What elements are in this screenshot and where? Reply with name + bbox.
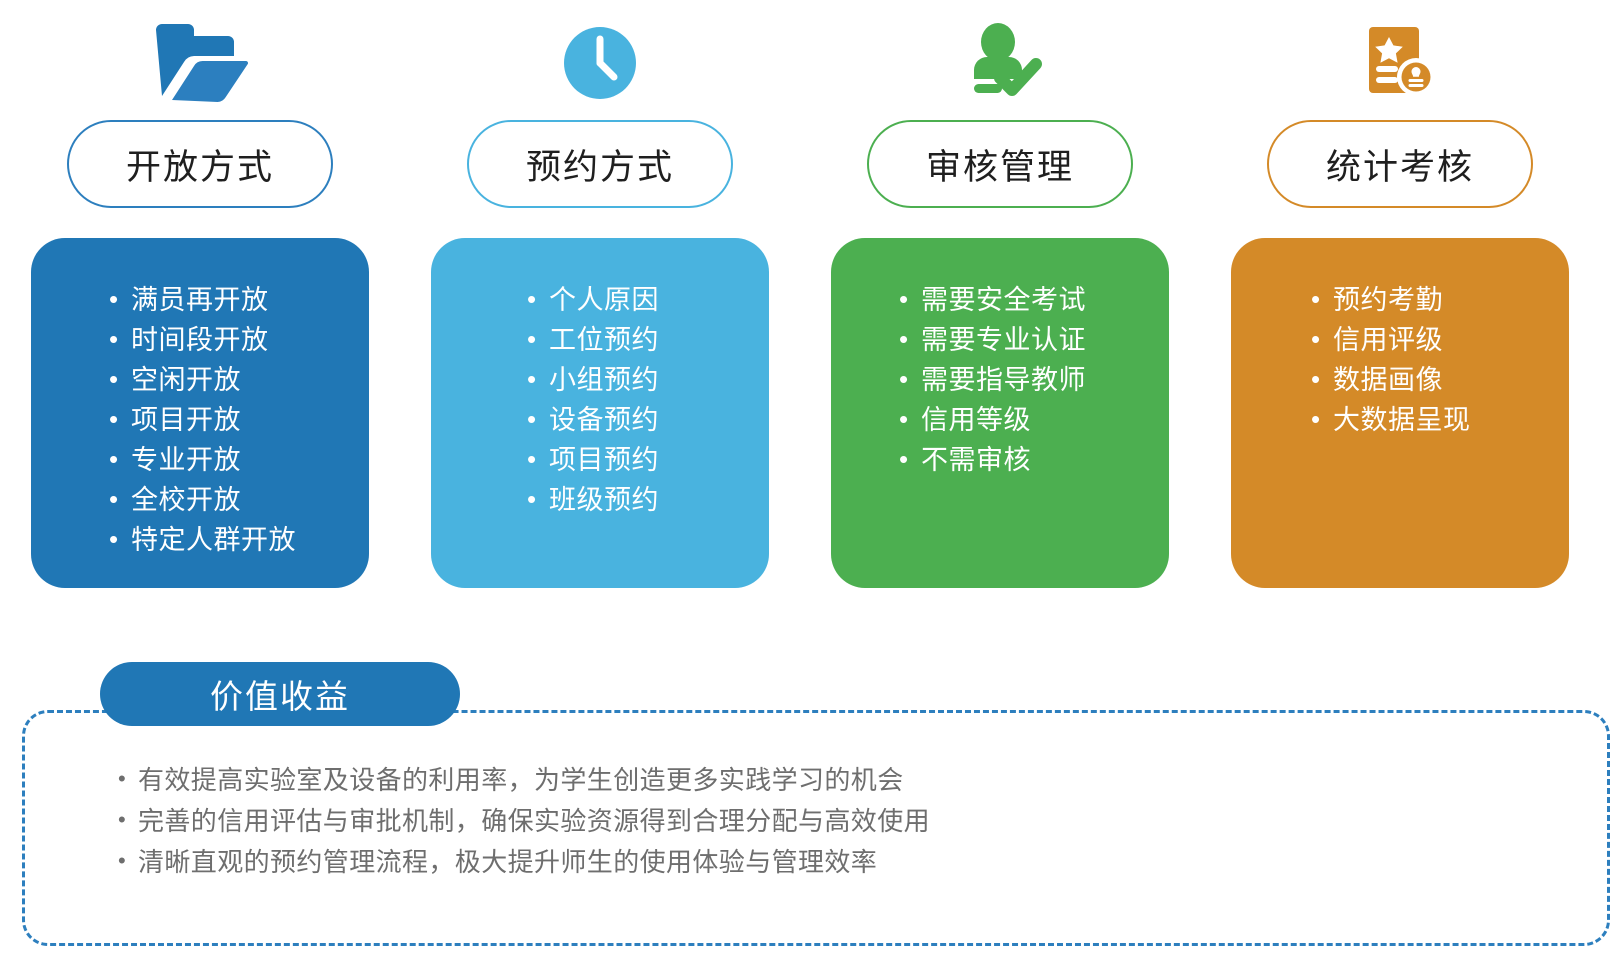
list-item: 专业开放: [109, 440, 296, 480]
list-item: 时间段开放: [109, 320, 296, 360]
column-panel: 满员再开放 时间段开放 空闲开放 项目开放 专业开放 全校开放 特定人群开放: [31, 238, 369, 588]
column-open-mode: 开放方式 满员再开放 时间段开放 空闲开放 项目开放 专业开放 全校开放 特定人…: [0, 0, 400, 620]
column-statistics-assessment: 统计考核 预约考勤 信用评级 数据画像 大数据呈现: [1200, 0, 1600, 620]
open-folder-icon: [145, 8, 255, 118]
list-item: 特定人群开放: [109, 520, 296, 560]
list-item: 设备预约: [527, 400, 659, 440]
feature-list: 预约考勤 信用评级 数据画像 大数据呈现: [1311, 280, 1471, 440]
list-item: 全校开放: [109, 480, 296, 520]
list-item: 空闲开放: [109, 360, 296, 400]
list-item: 个人原因: [527, 280, 659, 320]
column-title-pill[interactable]: 开放方式: [67, 120, 333, 208]
certificate-badge-icon: [1345, 8, 1455, 118]
list-item: 小组预约: [527, 360, 659, 400]
column-review-management: 审核管理 需要安全考试 需要专业认证 需要指导教师 信用等级 不需审核: [800, 0, 1200, 620]
list-item: 预约考勤: [1311, 280, 1471, 320]
column-title-pill[interactable]: 预约方式: [467, 120, 733, 208]
list-item: 项目开放: [109, 400, 296, 440]
approved-person-icon: [945, 8, 1055, 118]
column-panel: 需要安全考试 需要专业认证 需要指导教师 信用等级 不需审核: [831, 238, 1169, 588]
list-item: 项目预约: [527, 440, 659, 480]
list-item: 大数据呈现: [1311, 400, 1471, 440]
list-item: 需要专业认证: [899, 320, 1086, 360]
list-item: 需要安全考试: [899, 280, 1086, 320]
feature-list: 需要安全考试 需要专业认证 需要指导教师 信用等级 不需审核: [899, 280, 1086, 480]
column-panel: 个人原因 工位预约 小组预约 设备预约 项目预约 班级预约: [431, 238, 769, 588]
feature-list: 满员再开放 时间段开放 空闲开放 项目开放 专业开放 全校开放 特定人群开放: [109, 280, 296, 560]
column-booking-mode: 预约方式 个人原因 工位预约 小组预约 设备预约 项目预约 班级预约: [400, 0, 800, 620]
list-item: 班级预约: [527, 480, 659, 520]
list-item: 不需审核: [899, 440, 1086, 480]
list-item: 信用评级: [1311, 320, 1471, 360]
column-title-pill[interactable]: 审核管理: [867, 120, 1133, 208]
feature-columns: 开放方式 满员再开放 时间段开放 空闲开放 项目开放 专业开放 全校开放 特定人…: [0, 0, 1622, 620]
list-item: 满员再开放: [109, 280, 296, 320]
list-item: 信用等级: [899, 400, 1086, 440]
list-item: 完善的信用评估与审批机制，确保实验资源得到合理分配与高效使用: [118, 801, 930, 842]
list-item: 清晰直观的预约管理流程，极大提升师生的使用体验与管理效率: [118, 842, 930, 883]
list-item: 数据画像: [1311, 360, 1471, 400]
value-badge[interactable]: 价值收益: [100, 662, 460, 726]
feature-list: 个人原因 工位预约 小组预约 设备预约 项目预约 班级预约: [527, 280, 659, 520]
list-item: 需要指导教师: [899, 360, 1086, 400]
column-title-pill[interactable]: 统计考核: [1267, 120, 1533, 208]
value-section: 价值收益 有效提高实验室及设备的利用率，为学生创造更多实践学习的机会 完善的信用…: [0, 648, 1622, 968]
value-benefit-list: 有效提高实验室及设备的利用率，为学生创造更多实践学习的机会 完善的信用评估与审批…: [118, 760, 930, 883]
clock-icon: [545, 8, 655, 118]
list-item: 有效提高实验室及设备的利用率，为学生创造更多实践学习的机会: [118, 760, 930, 801]
column-panel: 预约考勤 信用评级 数据画像 大数据呈现: [1231, 238, 1569, 588]
list-item: 工位预约: [527, 320, 659, 360]
